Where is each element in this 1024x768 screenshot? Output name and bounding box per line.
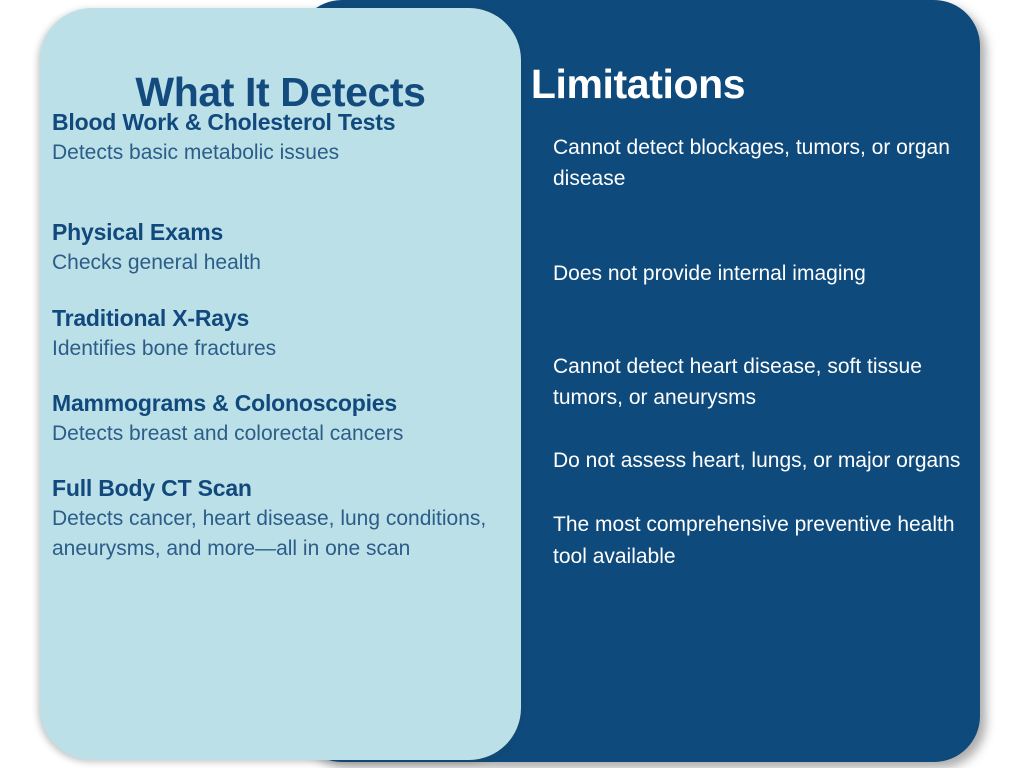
detect-item: Full Body CT Scan Detects cancer, heart … — [52, 474, 521, 564]
detect-item-heading: Physical Exams — [52, 218, 521, 246]
detect-item-heading: Blood Work & Cholesterol Tests — [52, 108, 521, 136]
limitation-item: The most comprehensive preventive health… — [553, 509, 963, 571]
limitation-item: Cannot detect heart disease, soft tissue… — [553, 351, 963, 413]
limitation-item: Does not provide internal imaging — [553, 258, 963, 289]
detect-item-description: Detects cancer, heart disease, lung cond… — [52, 504, 521, 564]
detect-item-description: Detects basic metabolic issues — [52, 138, 521, 168]
limitation-item: Cannot detect blockages, tumors, or orga… — [553, 132, 963, 194]
detect-item-description: Identifies bone fractures — [52, 334, 521, 364]
detect-item: Mammograms & Colonoscopies Detects breas… — [52, 389, 521, 449]
detect-item-description: Checks general health — [52, 248, 521, 278]
detect-item: Physical Exams Checks general health — [52, 218, 521, 278]
what-it-detects-panel-inner: What It Detects Blood Work & Cholesterol… — [40, 8, 521, 760]
what-it-detects-panel: What It Detects Blood Work & Cholesterol… — [40, 8, 521, 760]
detects-list: Blood Work & Cholesterol Tests Detects b… — [52, 108, 521, 564]
limitation-item: Do not assess heart, lungs, or major org… — [553, 445, 963, 476]
limitations-list: Cannot detect blockages, tumors, or orga… — [553, 132, 963, 572]
detect-item-heading: Traditional X-Rays — [52, 304, 521, 332]
detect-item-heading: Full Body CT Scan — [52, 474, 521, 502]
detect-item: Traditional X-Rays Identifies bone fract… — [52, 304, 521, 364]
detect-item-description: Detects breast and colorectal cancers — [52, 419, 521, 449]
detect-item-heading: Mammograms & Colonoscopies — [52, 389, 521, 417]
comparison-graphic: Limitations Cannot detect blockages, tum… — [0, 0, 1024, 768]
detect-item: Blood Work & Cholesterol Tests Detects b… — [52, 108, 521, 168]
